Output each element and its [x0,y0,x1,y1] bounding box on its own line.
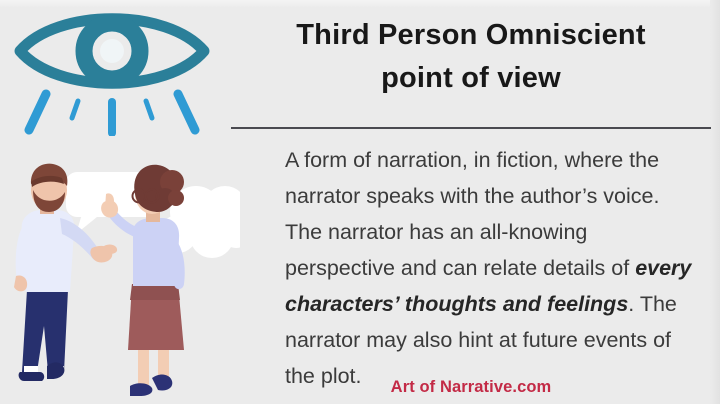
woman-leg-left [138,346,149,388]
page-title: Third Person Omniscient point of view [230,14,712,100]
eye-ray-outer-right [178,94,195,130]
eye-ray-inner-left [72,101,78,118]
eye-rays-group [29,94,195,133]
brand-footer: Art of Narrative.com [230,378,712,397]
man-shoe-right [47,362,64,379]
woman-shoe-left [130,383,152,396]
man-shoe-left [19,372,45,381]
woman-figure [101,165,185,396]
title-line-1: Third Person Omniscient [230,14,712,57]
eye-icon [12,6,212,136]
eye-ray-inner-right [146,101,152,118]
definition-segment-1: A form of narration, in fiction, where t… [285,148,659,280]
definition-text: A form of narration, in fiction, where t… [285,142,695,394]
eye-ray-outer-left [29,94,46,130]
title-divider [231,127,711,129]
infographic-canvas: Third Person Omniscient point of view A … [0,0,720,404]
man-pants [22,290,68,372]
definition-block: A form of narration, in fiction, where t… [285,142,695,394]
eye-pupil-shape [100,39,124,63]
conversation-illustration [0,160,240,404]
woman-shoe-right [152,374,172,390]
title-line-2: point of view [230,57,712,100]
